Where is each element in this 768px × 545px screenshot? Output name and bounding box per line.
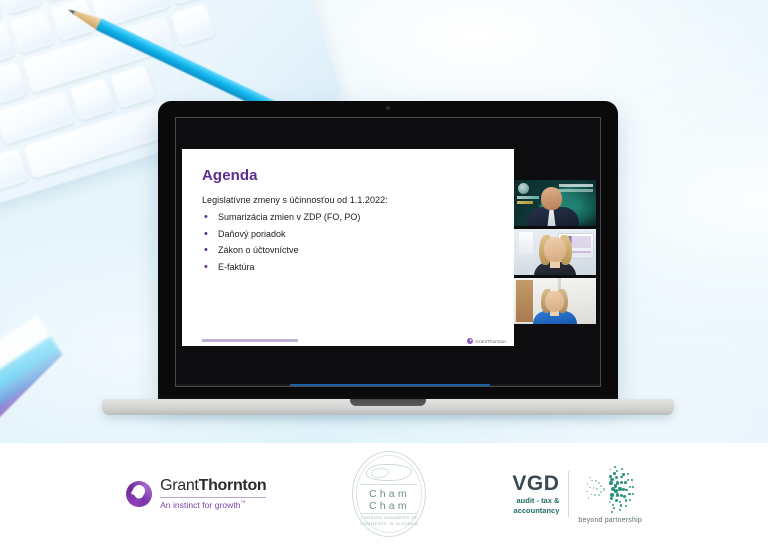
vgd-globe-dot — [611, 511, 613, 513]
participant-name-overlay — [559, 184, 593, 187]
vgd-globe-dot — [627, 479, 629, 481]
webcam-icon — [386, 106, 390, 110]
grant-thornton-tagline-text: An instinct for growth — [160, 500, 240, 510]
scrollbar-thumb[interactable] — [290, 384, 489, 386]
slide-bullet-text: Zákon o účtovníctve — [218, 245, 299, 255]
vgd-globe-dot — [625, 505, 627, 507]
vgd-globe-dot — [589, 477, 590, 478]
vgd-globe-dot — [615, 499, 618, 502]
vgd-globe-dot — [620, 481, 623, 484]
participant-head — [544, 237, 566, 262]
room-door — [516, 280, 533, 322]
vgd-globe-dot — [615, 476, 618, 479]
participant-tile[interactable] — [514, 278, 596, 324]
vgd-globe-dot — [613, 472, 616, 475]
logo-chamcham: Cham Cham FOREIGN CHAMBERS OF COMMERCE I… — [352, 451, 426, 537]
vgd-globe-dot — [616, 470, 618, 472]
room-lamp — [519, 232, 533, 254]
participant-tile[interactable] — [514, 180, 596, 226]
vgd-globe-dot — [595, 480, 597, 482]
vgd-globe-dot — [621, 468, 623, 470]
slide-content: Agenda Legislatívne zmeny s účinnosťou o… — [202, 167, 500, 278]
bullet-dot-icon: • — [202, 229, 218, 239]
vgd-globe-dot — [629, 499, 631, 501]
shared-slide: Agenda Legislatívne zmeny s účinnosťou o… — [182, 149, 514, 346]
slide-watermark: GrantThornton — [467, 338, 506, 344]
vgd-globe-dot — [598, 482, 600, 484]
vgd-globe-dot — [600, 485, 602, 487]
scrollbar[interactable] — [176, 384, 600, 386]
photo-scene: option G N F B V — [0, 0, 768, 443]
grant-thornton-name-part2: Thornton — [199, 477, 267, 494]
bullet-dot-icon: • — [202, 262, 218, 272]
vgd-globe-dot — [619, 509, 621, 511]
laptop-lid: Agenda Legislatívne zmeny s účinnosťou o… — [158, 101, 618, 401]
vgd-globe-dot — [590, 494, 592, 496]
vgd-globe-dot — [610, 497, 613, 500]
rainbow-wedge — [0, 315, 119, 443]
vgd-globe-dot — [614, 466, 616, 468]
slide-bullet-item: • Sumarizácia zmien v ZDP (FO, PO) — [202, 212, 500, 222]
slide-title: Agenda — [202, 167, 500, 184]
vgd-subtitle: audit - tax & accountancy — [514, 496, 560, 515]
vgd-globe-dot — [598, 494, 600, 496]
grant-thornton-rule — [160, 497, 266, 498]
vgd-globe-dot — [588, 497, 589, 498]
vgd-globe-dot — [612, 504, 615, 507]
vgd-globe-dot — [586, 491, 587, 492]
vgd-globe-dot — [609, 481, 613, 485]
participant-strip — [514, 180, 596, 324]
vgd-tagline: beyond partnership — [578, 517, 642, 524]
vgd-globe-dot — [632, 486, 634, 488]
vgd-globe-dot — [616, 481, 619, 484]
vgd-globe-dot — [625, 499, 627, 501]
bullet-dot-icon: • — [202, 245, 218, 255]
grant-thornton-swirl-icon — [467, 338, 473, 344]
chamcham-word-1: Cham — [352, 488, 426, 500]
vgd-globe-dot — [594, 494, 596, 496]
vgd-globe-dot — [591, 480, 593, 482]
virtual-background-text — [517, 201, 533, 204]
vgd-divider — [568, 471, 569, 517]
vgd-globe-dot — [623, 495, 626, 498]
chamcham-divider — [360, 484, 418, 485]
vgd-globe-dot — [619, 501, 622, 504]
participant-head — [545, 291, 564, 312]
slide-bullet-item: • E-faktúra — [202, 262, 500, 272]
vgd-globe-dot — [600, 491, 602, 493]
vgd-globe-dot — [628, 493, 630, 495]
video-meeting-window: Agenda Legislatívne zmeny s účinnosťou o… — [176, 118, 600, 386]
grant-thornton-name-part1: Grant — [160, 477, 199, 494]
slide-watermark-text: GrantThornton — [475, 339, 506, 344]
laptop-shadow — [112, 414, 664, 421]
chamcham-word-2: Cham — [352, 500, 426, 512]
slide-bullet-text: Daňový poriadok — [218, 229, 286, 239]
vgd-globe-dot — [589, 487, 591, 489]
virtual-background-logo-icon — [518, 183, 529, 194]
bullet-dot-icon: • — [202, 212, 218, 222]
vgd-globe-dot — [596, 488, 598, 490]
chamcham-subtitle: FOREIGN CHAMBERS OF COMMERCE IN SLOVAKIA — [358, 516, 420, 528]
logo-vgd: VGD audit - tax & accountancy beyond par… — [512, 464, 642, 524]
slide-lead-text: Legislatívne zmeny s účinnosťou od 1.1.2… — [202, 195, 500, 205]
vgd-mark: beyond partnership — [578, 464, 642, 524]
virtual-background-text — [517, 196, 539, 199]
vgd-globe-dot — [613, 507, 615, 509]
vgd-globe-dot — [631, 479, 633, 481]
vgd-globe-dot — [627, 473, 629, 475]
vgd-globe-dot — [620, 504, 622, 506]
vgd-globe-dot — [609, 475, 612, 478]
slide-accent-bar — [202, 339, 298, 342]
vgd-globe-dot — [622, 473, 624, 475]
vgd-globe-dot — [603, 488, 605, 490]
grant-thornton-name: GrantThornton — [160, 478, 266, 495]
vgd-globe-dot — [609, 469, 611, 471]
laptop: Agenda Legislatívne zmeny s účinnosťou o… — [158, 101, 618, 421]
logo-grant-thornton: GrantThornton An instinct for growth™ — [126, 478, 266, 511]
vgd-wordmark: VGD audit - tax & accountancy — [512, 473, 559, 515]
vgd-globe-dot — [624, 481, 627, 484]
vgd-name: VGD — [512, 473, 559, 494]
participant-tile-active-speaker[interactable] — [514, 229, 596, 275]
vgd-subtitle-line1: audit - tax & — [514, 496, 560, 506]
vgd-globe-icon — [585, 464, 635, 514]
laptop-notch — [350, 399, 426, 406]
vgd-globe-dot — [620, 476, 623, 479]
slide-bullet-item: • Zákon o účtovníctve — [202, 245, 500, 255]
vgd-globe-dot — [629, 486, 631, 488]
vgd-globe-dot — [632, 493, 634, 495]
vgd-globe-dot — [622, 488, 625, 491]
chamcham-divider — [360, 513, 418, 514]
laptop-display: Agenda Legislatívne zmeny s účinnosťou o… — [175, 117, 601, 387]
vgd-globe-dot — [593, 487, 595, 489]
vgd-globe-dot — [609, 501, 611, 503]
logo-footer: GrantThornton An instinct for growth™ Ch… — [0, 443, 768, 545]
slide-bullet-text: E-faktúra — [218, 262, 255, 272]
trademark-symbol: ™ — [241, 501, 246, 507]
vgd-subtitle-line2: accountancy — [514, 506, 560, 516]
slide-bullet-item: • Daňový poriadok — [202, 229, 500, 239]
grant-thornton-tagline: An instinct for growth™ — [160, 500, 266, 510]
participant-head — [541, 187, 562, 210]
grant-thornton-swirl-icon — [126, 481, 152, 507]
grant-thornton-wordmark: GrantThornton An instinct for growth™ — [160, 478, 266, 511]
slide-bullet-text: Sumarizácia zmien v ZDP (FO, PO) — [218, 212, 360, 222]
vgd-globe-dot — [625, 489, 628, 492]
vgd-globe-dot — [610, 478, 613, 481]
vgd-globe-dot — [616, 493, 619, 496]
vgd-globe-dot — [587, 483, 588, 484]
